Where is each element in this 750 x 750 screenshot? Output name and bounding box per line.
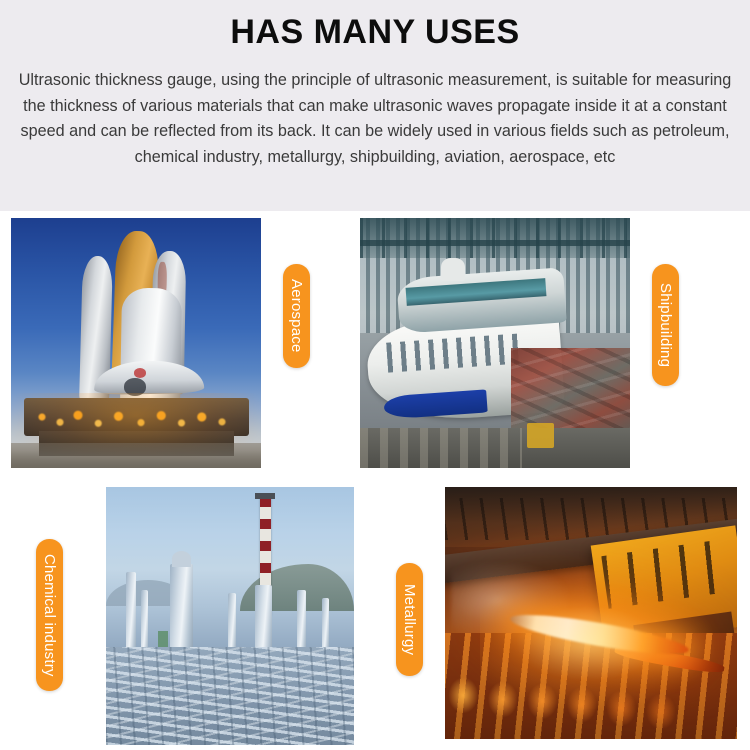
green-vessel [158,631,168,646]
metallurgy-scene [445,487,737,739]
photo-chemical-industry [106,487,354,745]
header-band: HAS MANY USES Ultrasonic thickness gauge… [0,0,750,211]
pipe-rack [106,647,354,745]
furnace-glow [480,578,714,709]
overhead-truss [360,218,630,258]
photo-metallurgy [445,487,737,739]
badge-aerospace: Aerospace [283,264,310,368]
intro-paragraph: Ultrasonic thickness gauge, using the pr… [16,68,734,170]
ship-funnel [441,258,465,281]
badge-aerospace-label: Aerospace [289,279,304,353]
aerospace-scene [11,218,261,468]
shipbuilding-scene [360,218,630,468]
marketing-page: HAS MANY USES Ultrasonic thickness gauge… [0,0,750,750]
badge-metallurgy-label: Metallurgy [402,584,417,655]
refinery-scene [106,487,354,745]
photo-aerospace [11,218,261,468]
page-title: HAS MANY USES [0,13,750,52]
dock-equipment [527,423,554,448]
dry-dock-floor [360,428,630,468]
photo-shipbuilding [360,218,630,468]
nasa-insignia [134,368,147,378]
badge-metallurgy: Metallurgy [396,563,423,676]
badge-shipbuilding-label: Shipbuilding [658,283,673,367]
ground-haze [11,443,261,468]
badge-shipbuilding: Shipbuilding [652,264,679,386]
badge-chemical-industry: Chemical industry [36,539,63,691]
badge-chemical-industry-label: Chemical industry [42,554,57,677]
